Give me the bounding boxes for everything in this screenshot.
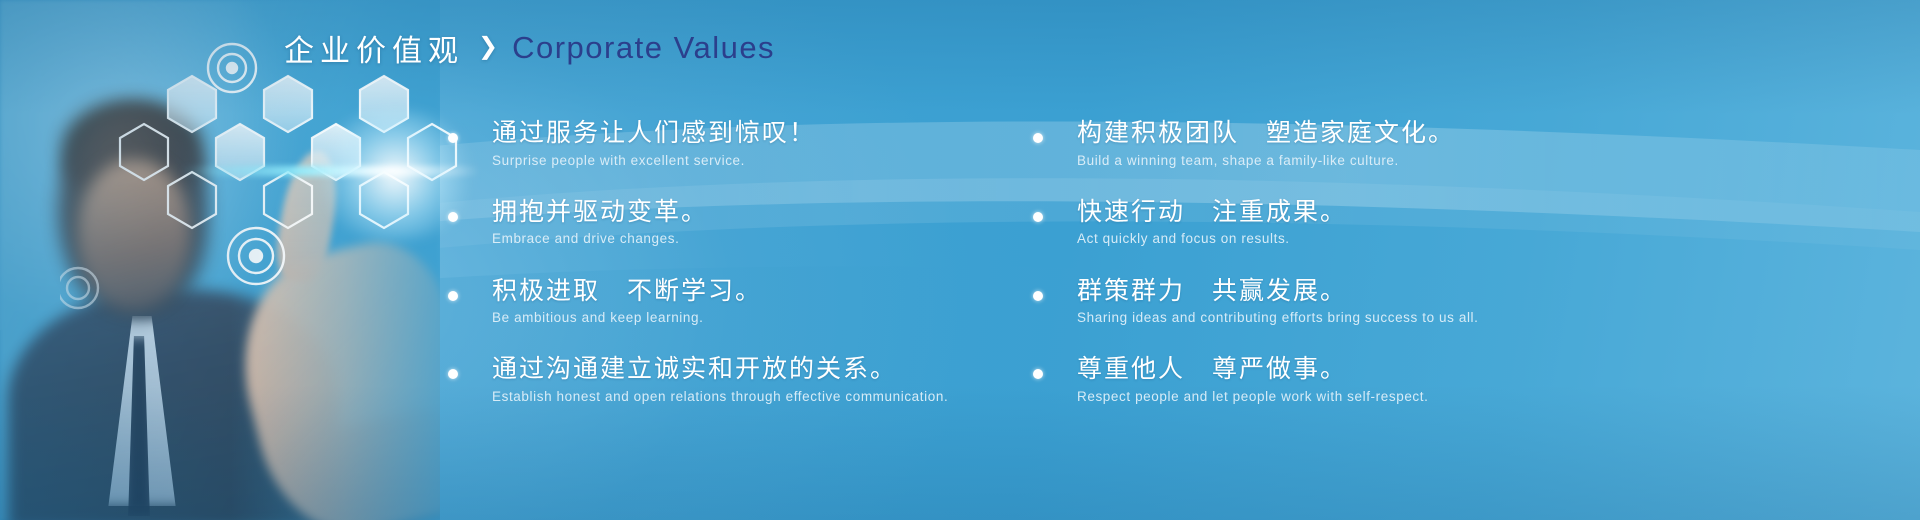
bullet-dot-icon [1033,133,1043,143]
bullet-dot-icon [448,212,458,222]
page-title-cn: 企业价值观 [284,26,464,70]
value-text-cn: 通过服务让人们感到惊叹！ [492,118,1060,149]
list-item: 快速行动 注重成果。 Act quickly and focus on resu… [1025,197,1885,250]
values-columns: 通过服务让人们感到惊叹！ Surprise people with excell… [0,118,1920,418]
values-column-left: 通过服务让人们感到惊叹！ Surprise people with excell… [440,118,1060,407]
list-item: 群策群力 共赢发展。 Sharing ideas and contributin… [1025,276,1885,329]
values-column-right: 构建积极团队 塑造家庭文化。 Build a winning team, sha… [1025,118,1885,407]
value-text-en: Build a winning team, shape a family-lik… [1077,151,1885,171]
value-text-cn: 快速行动 注重成果。 [1077,197,1885,228]
bullet-dot-icon [1033,369,1043,379]
list-item: 积极进取 不断学习。 Be ambitious and keep learnin… [440,276,1060,329]
bullet-dot-icon [448,369,458,379]
page-title: 企业价值观 ❯ Corporate Values [284,26,775,70]
list-item: 通过服务让人们感到惊叹！ Surprise people with excell… [440,118,1060,171]
value-text-cn: 通过沟通建立诚实和开放的关系。 [492,354,1060,385]
list-item: 尊重他人 尊严做事。 Respect people and let people… [1025,354,1885,407]
value-text-cn: 积极进取 不断学习。 [492,276,1060,307]
value-text-cn: 尊重他人 尊严做事。 [1077,354,1885,385]
value-text-en: Surprise people with excellent service. [492,151,1060,171]
bullet-dot-icon [1033,291,1043,301]
value-text-en: Embrace and drive changes. [492,229,1060,249]
value-text-cn: 群策群力 共赢发展。 [1077,276,1885,307]
chevron-right-icon: ❯ [478,35,498,59]
value-text-en: Respect people and let people work with … [1077,387,1885,407]
value-text-cn: 构建积极团队 塑造家庭文化。 [1077,118,1885,149]
corporate-values-banner: 企业价值观 ❯ Corporate Values 通过服务让人们感到惊叹！ Su… [0,0,1920,520]
bullet-dot-icon [448,133,458,143]
list-item: 拥抱并驱动变革。 Embrace and drive changes. [440,197,1060,250]
value-text-en: Establish honest and open relations thro… [492,387,1060,407]
list-item: 通过沟通建立诚实和开放的关系。 Establish honest and ope… [440,354,1060,407]
bullet-dot-icon [448,291,458,301]
value-text-cn: 拥抱并驱动变革。 [492,197,1060,228]
list-item: 构建积极团队 塑造家庭文化。 Build a winning team, sha… [1025,118,1885,171]
value-text-en: Be ambitious and keep learning. [492,308,1060,328]
value-text-en: Sharing ideas and contributing efforts b… [1077,308,1885,328]
bullet-dot-icon [1033,212,1043,222]
value-text-en: Act quickly and focus on results. [1077,229,1885,249]
page-title-en: Corporate Values [512,30,775,66]
